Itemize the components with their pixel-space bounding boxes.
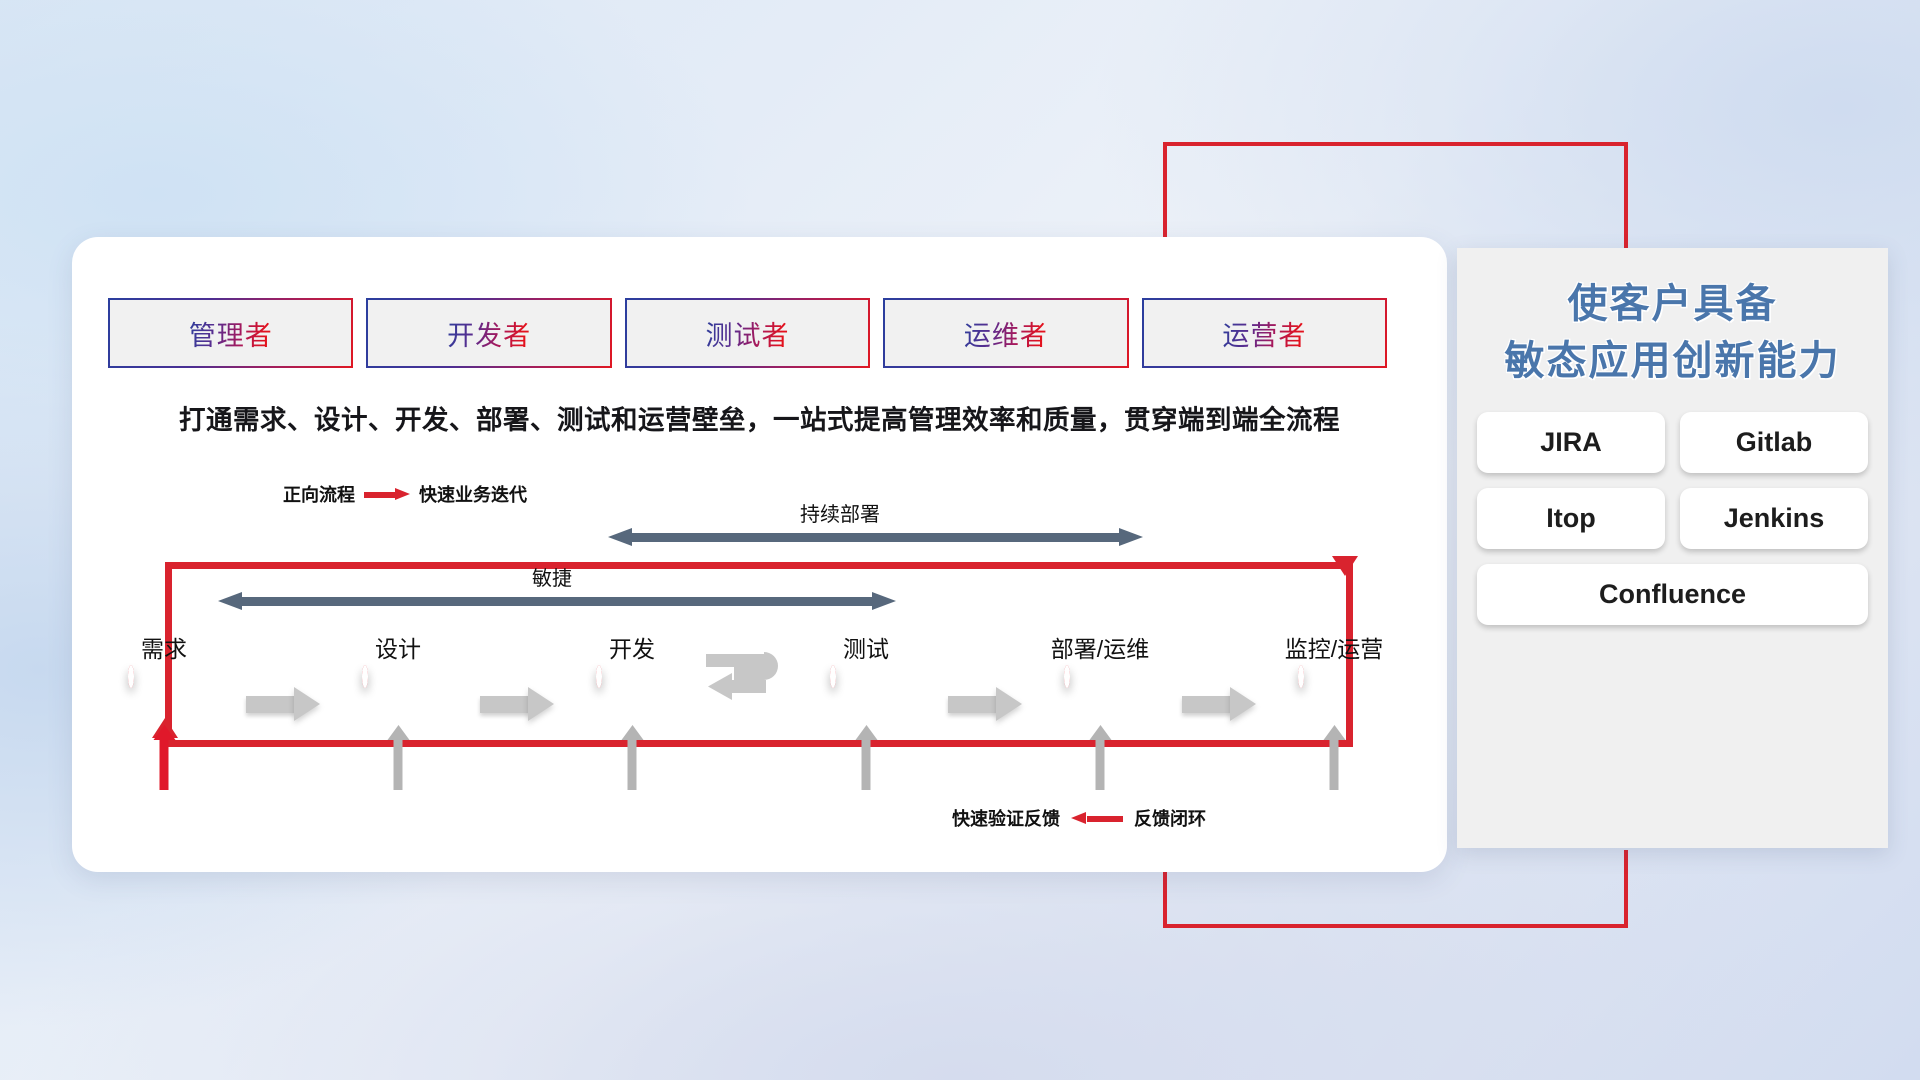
role-label: 测试者 xyxy=(706,314,790,353)
pipeline-node-development[interactable]: 开发 xyxy=(596,668,668,740)
pipeline-node-design[interactable]: 设计 xyxy=(362,668,434,740)
role-label: 管理者 xyxy=(189,314,273,353)
pipeline-node-dot-icon xyxy=(1298,665,1304,688)
pipeline-connector-chevron xyxy=(480,687,554,721)
pipeline-node-label: 需求 xyxy=(141,630,187,664)
pipeline-node-stem-icon xyxy=(1330,738,1339,790)
pipeline-node-stem-icon xyxy=(1096,738,1105,790)
tool-chip-jenkins[interactable]: Jenkins xyxy=(1680,488,1868,549)
pipeline-node-dot-icon xyxy=(596,665,602,688)
chevron-tip-icon xyxy=(1230,687,1256,721)
pipeline-connector-chevron xyxy=(948,687,1022,721)
pipeline-node-stem-icon xyxy=(160,738,169,790)
pipeline-node-label: 测试 xyxy=(843,630,889,664)
pipeline-node-label: 开发 xyxy=(609,630,655,664)
chevron-tip-icon xyxy=(294,687,320,721)
role-label: 开发者 xyxy=(447,314,531,353)
tools-panel-title-line1: 使客户具备 xyxy=(1457,276,1888,333)
role-box-tester[interactable]: 测试者 xyxy=(627,300,868,366)
pipeline-node-label: 设计 xyxy=(375,630,421,664)
pipeline-node-stem-icon xyxy=(394,738,403,790)
pipeline-node-label: 部署/运维 xyxy=(1051,630,1149,664)
tool-chip-itop[interactable]: Itop xyxy=(1477,488,1665,549)
chevron-bar xyxy=(948,696,998,713)
pipeline-node-testing[interactable]: 测试 xyxy=(830,668,902,740)
role-label: 运营者 xyxy=(1222,314,1306,353)
chevron-bar xyxy=(480,696,530,713)
pipeline-node-dot-icon xyxy=(128,665,134,688)
role-box-manager[interactable]: 管理者 xyxy=(110,300,351,366)
pipeline-node-requirements[interactable]: 需求 xyxy=(128,668,200,740)
iteration-uturn-arrow-icon xyxy=(700,652,792,706)
pipeline-node-label: 监控/运营 xyxy=(1285,630,1383,664)
tools-panel-title: 使客户具备 敏态应用创新能力 xyxy=(1457,276,1888,390)
tool-chip-jira[interactable]: JIRA xyxy=(1477,412,1665,473)
pipeline-node-stem-icon xyxy=(628,738,637,790)
role-boxes-row: 管理者 开发者 测试者 运维者 运营者 xyxy=(110,300,1385,366)
tool-chip-gitlab[interactable]: Gitlab xyxy=(1680,412,1868,473)
tool-chip-confluence[interactable]: Confluence xyxy=(1477,564,1868,625)
pipeline-connector-chevron xyxy=(246,687,320,721)
role-label: 运维者 xyxy=(964,314,1048,353)
chevron-tip-icon xyxy=(996,687,1022,721)
pipeline-node-dot-icon xyxy=(830,665,836,688)
tools-chip-grid: JIRA Gitlab Itop Jenkins Confluence xyxy=(1477,412,1868,625)
pipeline-node-dot-icon xyxy=(1064,665,1070,688)
chevron-bar xyxy=(1182,696,1232,713)
chevron-bar xyxy=(246,696,296,713)
slide-canvas: 管理者 开发者 测试者 运维者 运营者 打通需求、设计、开发、部署、测试和运营壁… xyxy=(0,0,1920,1080)
role-box-operations[interactable]: 运营者 xyxy=(1144,300,1385,366)
tools-panel: 使客户具备 敏态应用创新能力 JIRA Gitlab Itop Jenkins … xyxy=(1457,248,1888,848)
role-box-ops[interactable]: 运维者 xyxy=(885,300,1126,366)
pipeline-connector-chevron xyxy=(1182,687,1256,721)
role-box-developer[interactable]: 开发者 xyxy=(368,300,609,366)
pipeline-node-stem-icon xyxy=(862,738,871,790)
tools-panel-title-line2: 敏态应用创新能力 xyxy=(1457,333,1888,390)
chevron-tip-icon xyxy=(528,687,554,721)
pipeline-node-deploy-ops[interactable]: 部署/运维 xyxy=(1064,668,1136,740)
pipeline-node-monitor-operations[interactable]: 监控/运营 xyxy=(1298,668,1370,740)
pipeline-node-dot-icon xyxy=(362,665,368,688)
